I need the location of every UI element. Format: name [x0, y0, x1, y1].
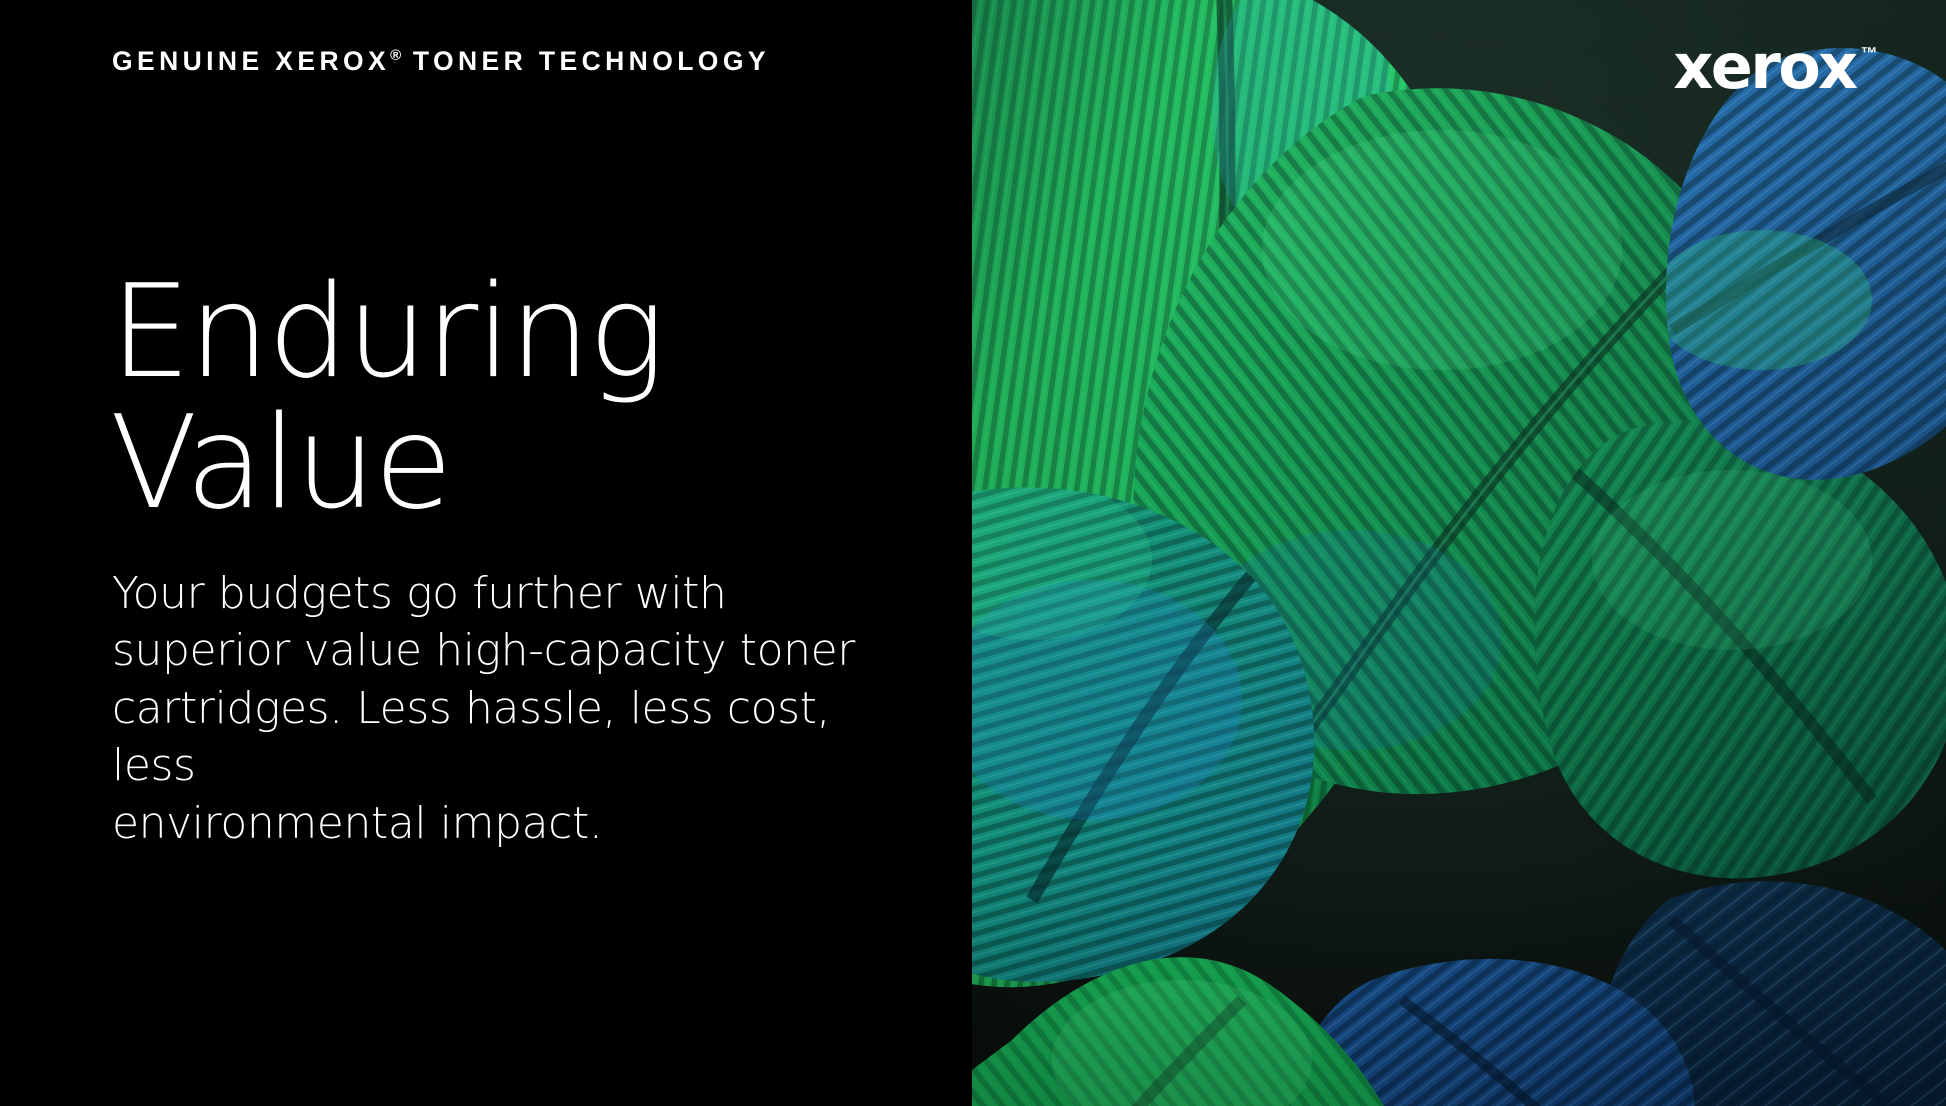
page-title: Enduring Value: [110, 268, 663, 529]
eyebrow-text-after: TONER TECHNOLOGY: [401, 46, 770, 76]
body-paragraph: Your budgets go further with superior va…: [112, 565, 872, 852]
registered-mark-icon: ®: [390, 47, 401, 64]
eyebrow-text-before: GENUINE XEROX: [112, 46, 390, 76]
copy-panel: GENUINE XEROX® TONER TECHNOLOGY Enduring…: [0, 0, 972, 1106]
eyebrow-heading: GENUINE XEROX® TONER TECHNOLOGY: [112, 48, 770, 75]
tropical-leaves-photo: [972, 0, 1946, 1106]
slide-root: GENUINE XEROX® TONER TECHNOLOGY Enduring…: [0, 0, 1946, 1106]
leaf-photo-panel: xerox ™: [972, 0, 1946, 1106]
